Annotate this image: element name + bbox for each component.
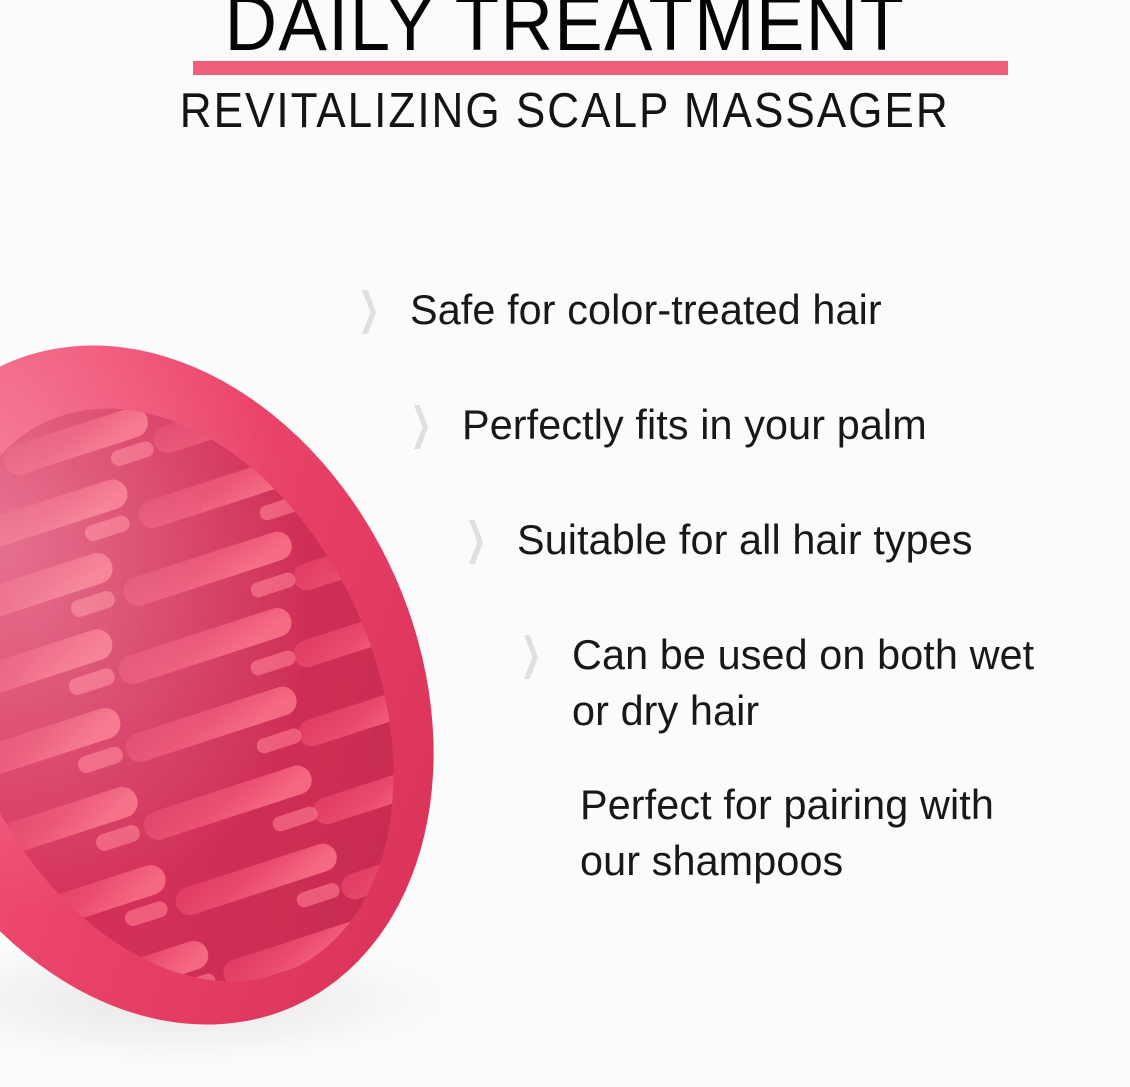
benefit-line-1: Perfect for pairing with	[580, 781, 994, 828]
benefit-item-3: ❯ Suitable for all hair types	[465, 512, 980, 568]
benefit-line-1: Safe for color-treated hair	[410, 286, 882, 333]
benefit-text-2: Perfectly fits in your palm	[462, 397, 927, 453]
page-subtitle: REVITALIZING SCALP MASSAGER	[180, 86, 950, 137]
product-feature-graphic: DAILY TREATMENT REVITALIZING SCALP MASSA…	[0, 0, 1130, 1087]
benefit-item-2: ❯ Perfectly fits in your palm	[410, 397, 934, 453]
page-subtitle-wrap: REVITALIZING SCALP MASSAGER	[0, 86, 1130, 137]
page-title-wrap: DAILY TREATMENT	[0, 0, 1130, 62]
benefit-text-5: Perfect for pairing with our shampoos	[580, 777, 994, 889]
product-bristles	[0, 381, 484, 1010]
benefit-item-4: ❯ Can be used on both wet or dry hair	[520, 627, 1041, 739]
benefit-line-2: our shampoos	[580, 833, 994, 889]
product-face	[0, 338, 479, 1053]
benefit-text-4: Can be used on both wet or dry hair	[572, 627, 1034, 739]
benefit-item-5: ❯ Perfect for pairing with our shampoos	[580, 777, 1000, 889]
product-shadow	[0, 930, 470, 1070]
chevron-right-icon: ❯	[410, 391, 432, 459]
chevron-right-icon: ❯	[520, 621, 542, 689]
product-strap	[0, 753, 21, 974]
benefit-text-1: Safe for color-treated hair	[410, 282, 882, 338]
benefit-line-2: or dry hair	[572, 683, 1034, 739]
benefit-line-1: Suitable for all hair types	[517, 516, 973, 563]
page-title: DAILY TREATMENT	[225, 0, 906, 62]
benefit-line-1: Can be used on both wet	[572, 631, 1034, 678]
benefit-line-1: Perfectly fits in your palm	[462, 401, 927, 448]
header: DAILY TREATMENT REVITALIZING SCALP MASSA…	[0, 0, 1130, 160]
chevron-right-icon: ❯	[358, 276, 380, 344]
benefit-text-3: Suitable for all hair types	[517, 512, 973, 568]
benefit-item-1: ❯ Safe for color-treated hair	[358, 282, 889, 338]
chevron-right-icon: ❯	[465, 506, 487, 574]
